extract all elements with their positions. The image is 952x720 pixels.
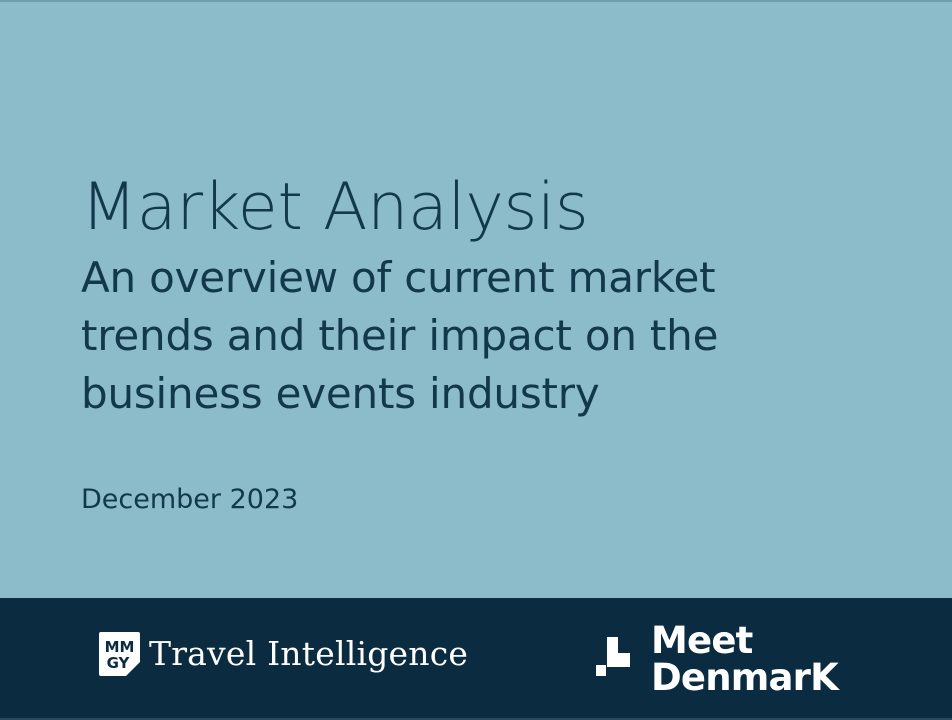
mmgy-badge-icon: MM GY <box>99 632 140 676</box>
meet-denmark-line-2: DenmarK <box>651 659 838 696</box>
footer-band: MM GY Travel Intelligence Meet DenmarK <box>0 598 952 718</box>
title-slide: Market Analysis An overview of current m… <box>0 0 952 720</box>
slide-date: December 2023 <box>81 483 298 517</box>
meet-denmark-logo: Meet DenmarK <box>595 622 838 696</box>
mmgy-travel-intelligence-logo: MM GY Travel Intelligence <box>99 632 468 676</box>
meet-denmark-blocks-icon <box>595 635 637 683</box>
mmgy-wordmark: Travel Intelligence <box>149 635 468 673</box>
svg-text:GY: GY <box>107 654 131 672</box>
meet-denmark-wordmark: Meet DenmarK <box>651 622 838 696</box>
title-block: Market Analysis An overview of current m… <box>81 170 871 423</box>
meet-denmark-line-1: Meet <box>651 622 838 659</box>
page-title: Market Analysis <box>81 170 871 246</box>
page-subtitle: An overview of current market trends and… <box>81 246 771 423</box>
